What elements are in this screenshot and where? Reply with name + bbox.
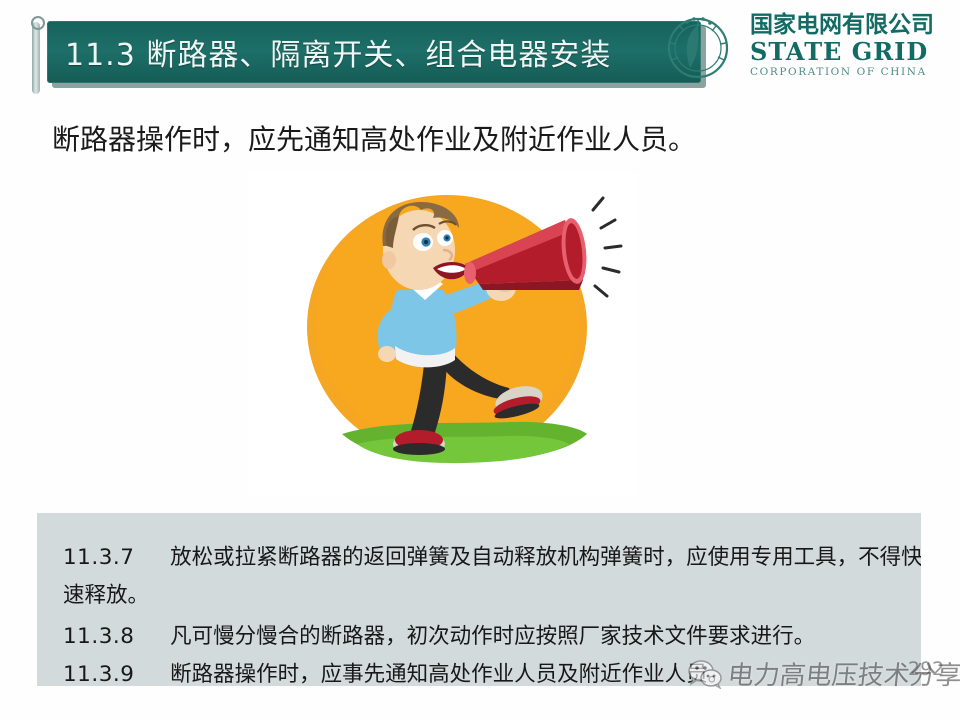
note-text: 放松或拉紧断路器的返回弹簧及自动释放机构弹簧时，应使用专用工具，不得快速释放。 (63, 545, 921, 608)
regulation-note-box: 11.3.7 放松或拉紧断路器的返回弹簧及自动释放机构弹簧时，应使用专用工具，不… (37, 513, 921, 686)
note-item-11-3-9: 11.3.9 断路器操作时，应事先通知高处作业人员及附近作业人员。 (63, 656, 921, 686)
note-item-11-3-8: 11.3.8 凡可慢分慢合的断路器，初次动作时应按照厂家技术文件要求进行。 (63, 618, 921, 656)
page-number: 292 (908, 658, 944, 680)
page-title: 11.3 断路器、隔离开关、组合电器安装 (47, 30, 611, 74)
note-number: 11.3.8 (63, 624, 134, 649)
note-item-11-3-7: 11.3.7 放松或拉紧断路器的返回弹簧及自动释放机构弹簧时，应使用专用工具，不… (63, 539, 921, 615)
slide-header: 11.3 断路器、隔离开关、组合电器安装 (0, 0, 960, 105)
company-subtitle-en: CORPORATION OF CHINA (750, 67, 950, 78)
state-grid-wordmark: 国家电网有限公司 STATE GRID CORPORATION OF CHINA (750, 14, 950, 86)
note-text: 凡可慢分慢合的断路器，初次动作时应按照厂家技术文件要求进行。 (170, 624, 815, 649)
section-title-banner: 11.3 断路器、隔离开关、组合电器安装 (47, 21, 701, 83)
company-name-en: STATE GRID (750, 40, 950, 64)
note-number: 11.3.9 (63, 662, 134, 686)
state-grid-emblem-icon (660, 10, 736, 86)
boy-with-megaphone-illustration (247, 172, 637, 497)
note-text: 断路器操作时，应事先通知高处作业人员及附近作业人员。 (170, 662, 729, 686)
slide-canvas: 11.3 断路器、隔离开关、组合电器安装 (0, 0, 960, 720)
note-number: 11.3.7 (63, 545, 134, 570)
lead-statement: 断路器操作时，应先通知高处作业及附近作业人员。 (52, 118, 912, 158)
company-name-cn: 国家电网有限公司 (750, 14, 950, 37)
banner-flag-pole-icon (32, 22, 40, 94)
